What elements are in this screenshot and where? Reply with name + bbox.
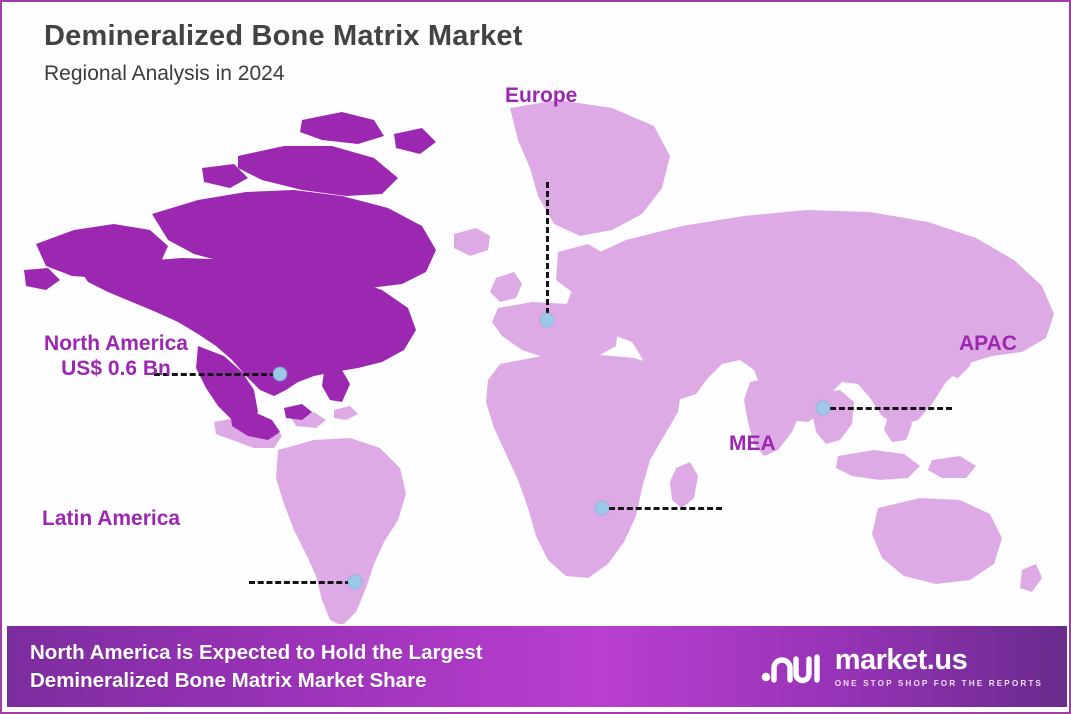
leader-line-mea: [609, 507, 722, 510]
footer-headline-line2: Demineralized Bone Matrix Market Share: [30, 667, 483, 694]
page-title: Demineralized Bone Matrix Market: [44, 20, 523, 53]
footer-banner: North America is Expected to Hold the La…: [7, 626, 1067, 707]
region-label-mea: MEA: [729, 432, 776, 457]
map-marker-apac[interactable]: [816, 401, 830, 415]
region-label-apac: APAC: [959, 332, 1017, 357]
region-label-latin-america: Latin America: [42, 507, 180, 532]
map-highlight-north-america: [24, 112, 436, 440]
infographic-page: Demineralized Bone Matrix Market Regiona…: [0, 0, 1071, 714]
market-us-logo[interactable]: market.us ONE STOP SHOP FOR THE REPORTS: [760, 646, 1043, 688]
region-label-north-america-name: North America: [44, 332, 188, 355]
region-label-north-america: North America US$ 0.6 Bn: [20, 332, 212, 382]
map-marker-latin-america[interactable]: [348, 575, 362, 589]
leader-line-latin-america: [249, 581, 351, 584]
leader-line-europe: [546, 182, 549, 314]
logo-name: market.us: [835, 646, 1043, 675]
map-marker-europe[interactable]: [540, 313, 554, 327]
region-value-north-america: US$ 0.6 Bn: [20, 357, 212, 382]
map-marker-mea[interactable]: [595, 501, 609, 515]
footer-headline: North America is Expected to Hold the La…: [30, 639, 483, 693]
logo-text-block: market.us ONE STOP SHOP FOR THE REPORTS: [835, 646, 1043, 688]
region-label-europe: Europe: [505, 84, 577, 109]
footer-headline-line1: North America is Expected to Hold the La…: [30, 639, 483, 666]
market-us-logo-icon: [760, 647, 826, 687]
leader-line-apac: [830, 407, 952, 410]
logo-tagline: ONE STOP SHOP FOR THE REPORTS: [835, 679, 1043, 688]
map-marker-north-america[interactable]: [273, 367, 287, 381]
